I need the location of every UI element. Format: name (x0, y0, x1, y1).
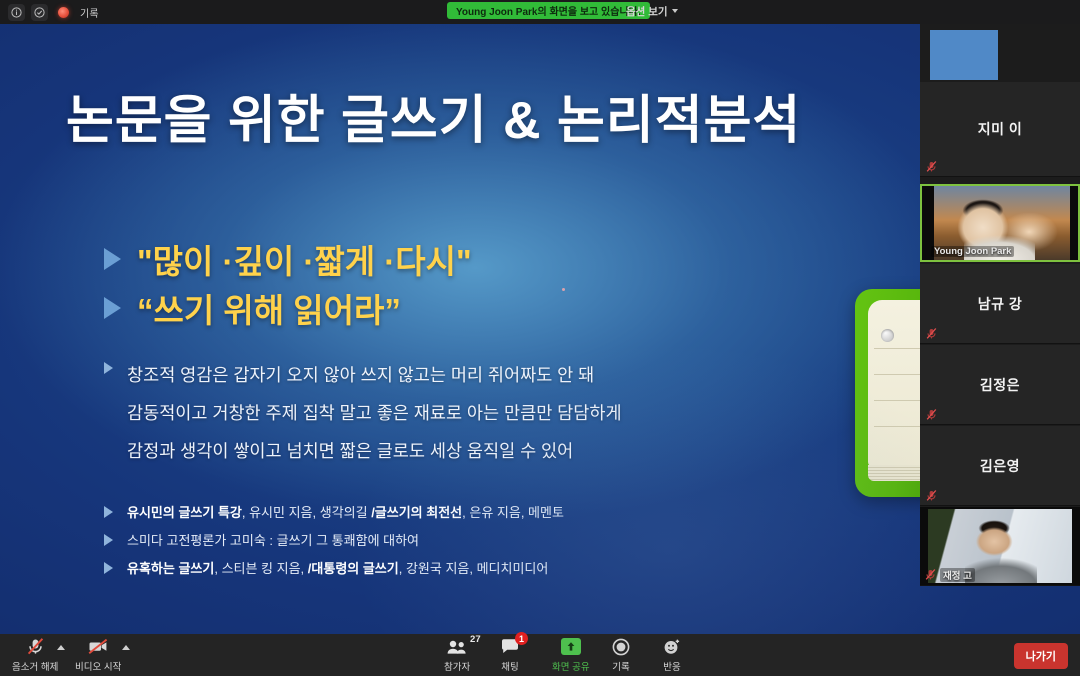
share-screen-button[interactable]: 화면 공유 (552, 637, 590, 673)
recording-label: 기록 (80, 5, 99, 20)
bullet-triangle-icon (104, 248, 121, 270)
record-label: 기록 (612, 659, 629, 673)
slide-reference-line: 스미다 고전평론가 고미숙 : 글쓰기 그 통쾌함에 대하여 (104, 530, 564, 549)
participant-filmstrip[interactable]: 지미 이 Young Joon Park 남규 강 김정은 김은영 (920, 24, 1080, 586)
bullet-triangle-icon (104, 362, 113, 374)
slide-reference-block: 유시민의 글쓰기 특강, 유시민 지음, 생각의길 /글쓰기의 최전선, 은유 … (104, 502, 564, 586)
slide-quote-1: "많이 ·깊이 ·짧게 ·다시" (104, 235, 472, 283)
bullet-triangle-icon (104, 534, 113, 546)
participant-name: 지미 이 (920, 119, 1080, 139)
slide-title: 논문을 위한 글쓰기 & 논리적분석 (66, 78, 801, 153)
chat-unread-badge: 1 (515, 632, 528, 645)
reactions-label: 반응 (663, 659, 680, 673)
reactions-button[interactable]: 반응 (663, 637, 681, 673)
participant-name: 재정 고 (940, 568, 975, 582)
top-bar-left-controls: 기록 (0, 4, 99, 21)
shield-icon[interactable] (31, 4, 48, 21)
participants-label: 참가자 (444, 659, 470, 673)
zoom-meeting-window: 기록 Young Joon Park의 화면을 보고 있습니다. 옵션 보기 논… (0, 0, 1080, 676)
reactions-smiley-icon (663, 637, 681, 656)
start-video-label: 비디오 시작 (75, 659, 121, 673)
slide-body-line: 감정과 생각이 쌓이고 넘치면 짧은 글로도 세상 움직일 수 있어 (104, 438, 622, 463)
participant-name: 김은영 (920, 456, 1080, 476)
slide-quote-2-text: “쓰기 위해 읽어라” (137, 284, 401, 332)
slide-reference-text: 유시민의 글쓰기 특강, 유시민 지음, 생각의길 /글쓰기의 최전선, 은유 … (127, 502, 564, 521)
view-options-button[interactable]: 옵션 보기 (620, 2, 684, 20)
participant-tile-namgyu-kang[interactable]: 남규 강 (920, 264, 1080, 344)
slide-reference-line: 유시민의 글쓰기 특강, 유시민 지음, 생각의길 /글쓰기의 최전선, 은유 … (104, 502, 564, 521)
record-circle-icon (612, 637, 630, 656)
mic-muted-icon (925, 489, 938, 502)
chat-bubble-icon: 1 (500, 637, 520, 656)
chat-button[interactable]: 1 채팅 (500, 637, 520, 673)
share-screen-label: 화면 공유 (552, 659, 590, 673)
screen-share-banner-text: Young Joon Park의 화면을 보고 있습니다. (456, 3, 641, 18)
slide-body-block: 창조적 영감은 갑자기 오지 않아 쓰지 않고는 머리 쥐어짜도 안 돼 감동적… (104, 362, 622, 476)
notepad-hole (881, 329, 894, 342)
bullet-triangle-icon (104, 506, 113, 518)
participants-button[interactable]: 27 참가자 (444, 637, 470, 673)
bullet-triangle-icon (104, 562, 113, 574)
shared-screen-slide: 논문을 위한 글쓰기 & 논리적분석 "많이 ·깊이 ·짧게 ·다시" “쓰기 … (0, 24, 1080, 634)
slide-body-line: 창조적 영감은 갑자기 오지 않아 쓰지 않고는 머리 쥐어짜도 안 돼 (104, 362, 622, 387)
mic-muted-icon (925, 327, 938, 340)
participant-tile-partial[interactable] (930, 30, 998, 80)
leave-meeting-button[interactable]: 나가기 (1014, 643, 1068, 669)
slide-body-line: 감동적이고 거창한 주제 집착 말고 좋은 재료로 아는 만큼만 담담하게 (104, 400, 622, 425)
participant-tile-kim-jungeun[interactable]: 김정은 (920, 345, 1080, 425)
record-button[interactable]: 기록 (612, 637, 630, 673)
participant-tile-jimi-lee[interactable]: 지미 이 (920, 82, 1080, 177)
top-bar: 기록 Young Joon Park의 화면을 보고 있습니다. 옵션 보기 (0, 0, 1080, 24)
share-screen-icon (561, 637, 581, 656)
slide-body-line-text: 감동적이고 거창한 주제 집착 말고 좋은 재료로 아는 만큼만 담담하게 (127, 400, 622, 425)
chat-label: 채팅 (501, 659, 518, 673)
slide-body-line-text: 감정과 생각이 쌓이고 넘치면 짧은 글로도 세상 움직일 수 있어 (127, 438, 573, 463)
participant-tile-young-joon-park[interactable]: Young Joon Park (920, 184, 1080, 262)
slide-quote-1-text: "많이 ·깊이 ·짧게 ·다시" (137, 235, 472, 283)
info-icon[interactable] (8, 4, 25, 21)
mic-muted-icon (925, 160, 938, 173)
participant-tile-kim-eunyoung[interactable]: 김은영 (920, 426, 1080, 506)
audio-options-chevron-icon[interactable] (57, 645, 65, 650)
slide-quote-2: “쓰기 위해 읽어라” (104, 284, 401, 332)
video-options-chevron-icon[interactable] (122, 645, 130, 650)
participant-name: 남규 강 (920, 294, 1080, 314)
cursor-dot (562, 288, 565, 291)
camera-muted-icon (87, 637, 109, 656)
bullet-triangle-icon (104, 297, 121, 319)
slide-reference-text: 유혹하는 글쓰기, 스티븐 킹 지음, /대통령의 글쓰기, 강원국 지음, 메… (127, 558, 548, 577)
participants-icon: 27 (446, 637, 469, 656)
slide-body-line-text: 창조적 영감은 갑자기 오지 않아 쓰지 않고는 머리 쥐어짜도 안 돼 (127, 362, 594, 387)
recording-indicator-icon[interactable] (58, 7, 69, 18)
chevron-down-icon (672, 9, 678, 13)
microphone-muted-icon (26, 637, 45, 656)
unmute-label: 음소거 해제 (12, 659, 58, 673)
start-video-button[interactable]: 비디오 시작 (75, 637, 121, 673)
mic-muted-icon (925, 408, 938, 421)
mic-muted-icon (924, 568, 937, 581)
participant-name: Young Joon Park (931, 246, 1014, 257)
unmute-button[interactable]: 음소거 해제 (12, 637, 58, 673)
participant-tile-jaejeong-ko[interactable]: 재정 고 (920, 507, 1080, 586)
slide-reference-line: 유혹하는 글쓰기, 스티븐 킹 지음, /대통령의 글쓰기, 강원국 지음, 메… (104, 558, 564, 577)
participant-name: 김정은 (920, 375, 1080, 395)
participants-count: 27 (470, 634, 481, 645)
slide-reference-text: 스미다 고전평론가 고미숙 : 글쓰기 그 통쾌함에 대하여 (127, 530, 419, 549)
view-options-label: 옵션 보기 (626, 4, 668, 19)
meeting-toolbar: 음소거 해제 비디오 시작 27 참가자 1 채팅 (0, 634, 1080, 676)
